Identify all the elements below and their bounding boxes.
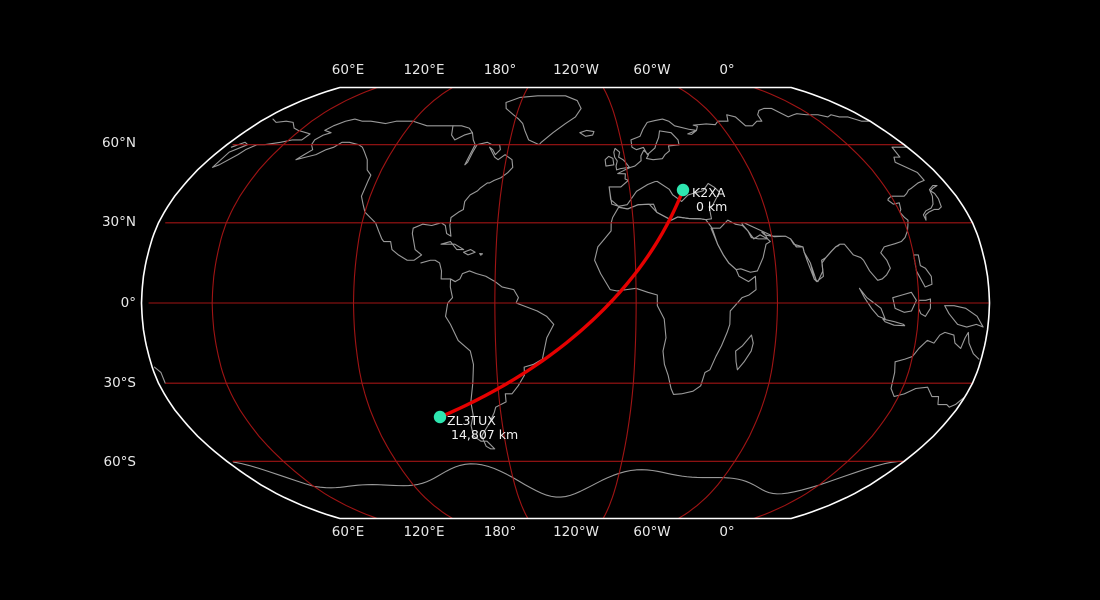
marker-label-k2xa: K2XA0 km: [692, 186, 727, 214]
station-marker-k2xa[interactable]: [677, 184, 689, 196]
robinson-map: [0, 0, 1100, 600]
lon-tick-bottom-2: 180°: [484, 524, 517, 540]
lon-tick-bottom-1: 120°E: [403, 524, 444, 540]
lon-tick-top-4: 60°W: [633, 62, 670, 78]
station-marker-zl3tux[interactable]: [434, 411, 446, 423]
marker-distance: 0 km: [692, 200, 727, 214]
lon-tick-bottom-4: 60°W: [633, 524, 670, 540]
lon-tick-top-0: 60°E: [332, 62, 364, 78]
lon-tick-top-3: 120°W: [553, 62, 599, 78]
lat-tick-left-0: 60°N: [102, 135, 136, 151]
marker-callsign: K2XA: [692, 186, 727, 200]
lon-tick-top-5: 0°: [719, 62, 734, 78]
lon-tick-top-1: 120°E: [403, 62, 444, 78]
marker-distance: 14,807 km: [447, 428, 518, 442]
lat-tick-left-2: 0°: [121, 295, 136, 311]
lon-tick-top-2: 180°: [484, 62, 517, 78]
map-background: [0, 0, 1100, 600]
map-figure: Robinson Projection FN32 to RE66HO (245°…: [0, 0, 1100, 600]
lat-tick-left-1: 30°N: [102, 214, 136, 230]
lon-tick-bottom-3: 120°W: [553, 524, 599, 540]
lat-tick-left-4: 60°S: [104, 454, 137, 470]
marker-callsign: ZL3TUX: [447, 414, 518, 428]
marker-label-zl3tux: ZL3TUX14,807 km: [447, 414, 518, 442]
lat-tick-left-3: 30°S: [104, 375, 137, 391]
lon-tick-bottom-5: 0°: [719, 524, 734, 540]
lon-tick-bottom-0: 60°E: [332, 524, 364, 540]
